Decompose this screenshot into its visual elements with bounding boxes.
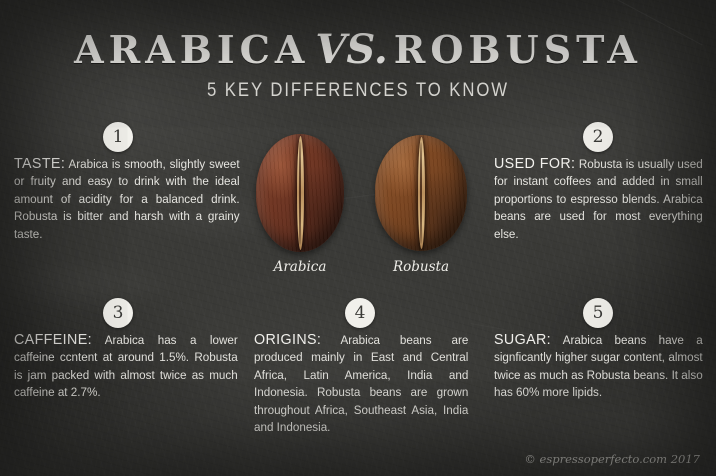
- title-arabica: ARABICA: [74, 27, 309, 72]
- bean-caption-robusta: Robusta: [371, 259, 471, 275]
- section-block-used-for: USED FOR: Robusta is usually used for in…: [494, 155, 703, 243]
- section-block-origins: ORIGINS: Arabica beans are produced main…: [254, 331, 468, 436]
- bean-image-robusta: [375, 135, 467, 251]
- title-vs: VS.: [315, 26, 387, 73]
- section-badge-1: 1: [103, 122, 133, 152]
- section-block-sugar: SUGAR: Arabica beans have a signficantly…: [494, 331, 703, 402]
- poster-subtitle: 5 KEY DIFFERENCES TO KNOW: [43, 80, 673, 102]
- section-block-caffeine: CAFFEINE: Arabica has a lower caffeine c…: [14, 331, 238, 402]
- section-lead-caffeine: CAFFEINE:: [14, 331, 92, 348]
- section-lead-sugar: SUGAR:: [494, 331, 551, 348]
- poster-title: ARABICAVS.ROBUSTA: [0, 26, 716, 73]
- title-robusta: ROBUSTA: [394, 27, 642, 72]
- section-lead-taste: TASTE:: [14, 155, 65, 172]
- section-lead-used-for: USED FOR:: [494, 155, 575, 172]
- bean-center-crack: [418, 137, 425, 248]
- bean-image-arabica: [256, 134, 344, 252]
- section-badge-2: 2: [583, 122, 613, 152]
- section-badge-5: 5: [583, 298, 613, 328]
- section-badge-4: 4: [345, 298, 375, 328]
- section-body-origins: Arabica beans are produced mainly in Eas…: [254, 333, 468, 434]
- section-lead-origins: ORIGINS:: [254, 331, 321, 348]
- section-block-taste: TASTE: Arabica is smooth, slightly sweet…: [14, 155, 240, 243]
- copyright-credit: © espressoperfecto.com 2017: [524, 452, 700, 466]
- bean-center-crack: [297, 136, 304, 249]
- bean-caption-arabica: Arabica: [250, 259, 350, 275]
- section-badge-3: 3: [103, 298, 133, 328]
- infographic-poster: ARABICAVS.ROBUSTA 5 KEY DIFFERENCES TO K…: [0, 0, 716, 476]
